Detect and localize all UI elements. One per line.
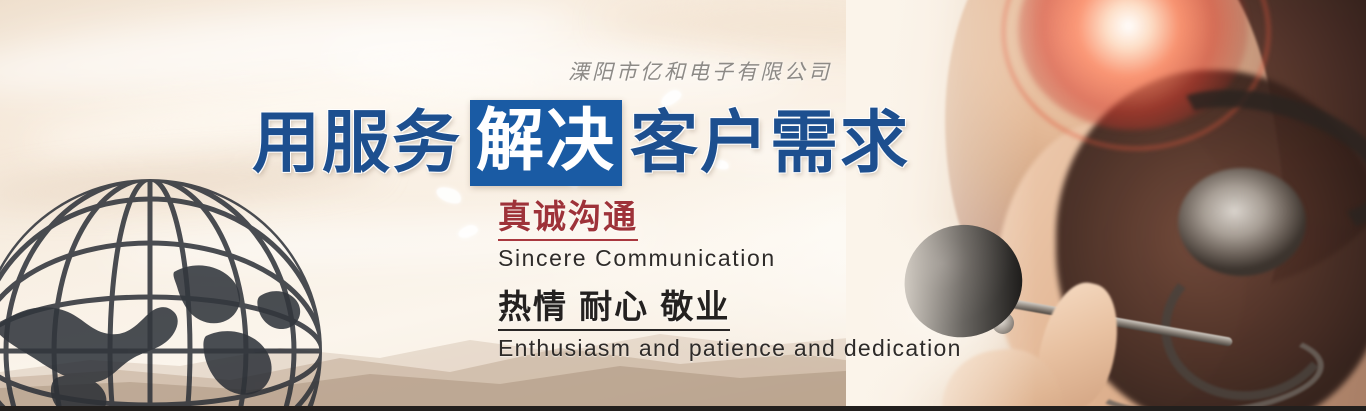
headline-after: 客户需求: [630, 102, 910, 184]
slogan-block: 真诚沟通 Sincere Communication 热情 耐心 敬业 Enth…: [498, 198, 962, 362]
slogan-2-cn: 热情 耐心 敬业: [498, 288, 730, 331]
slogan-2-en: Enthusiasm and patience and dedication: [498, 335, 962, 362]
slogan-1-en: Sincere Communication: [498, 245, 962, 272]
headline-highlight: 解决: [470, 100, 622, 186]
headline: 用服务 解决 客户需求: [252, 100, 910, 186]
banner-copy: 溧阳市亿和电子有限公司 用服务 解决 客户需求 真诚沟通 Sincere Com…: [0, 0, 1366, 411]
bottom-bar: [0, 406, 1366, 411]
company-name: 溧阳市亿和电子有限公司: [568, 56, 832, 86]
hero-banner: 溧阳市亿和电子有限公司 用服务 解决 客户需求 真诚沟通 Sincere Com…: [0, 0, 1366, 411]
slogan-1-cn: 真诚沟通: [498, 198, 638, 241]
headline-before: 用服务: [252, 102, 462, 184]
